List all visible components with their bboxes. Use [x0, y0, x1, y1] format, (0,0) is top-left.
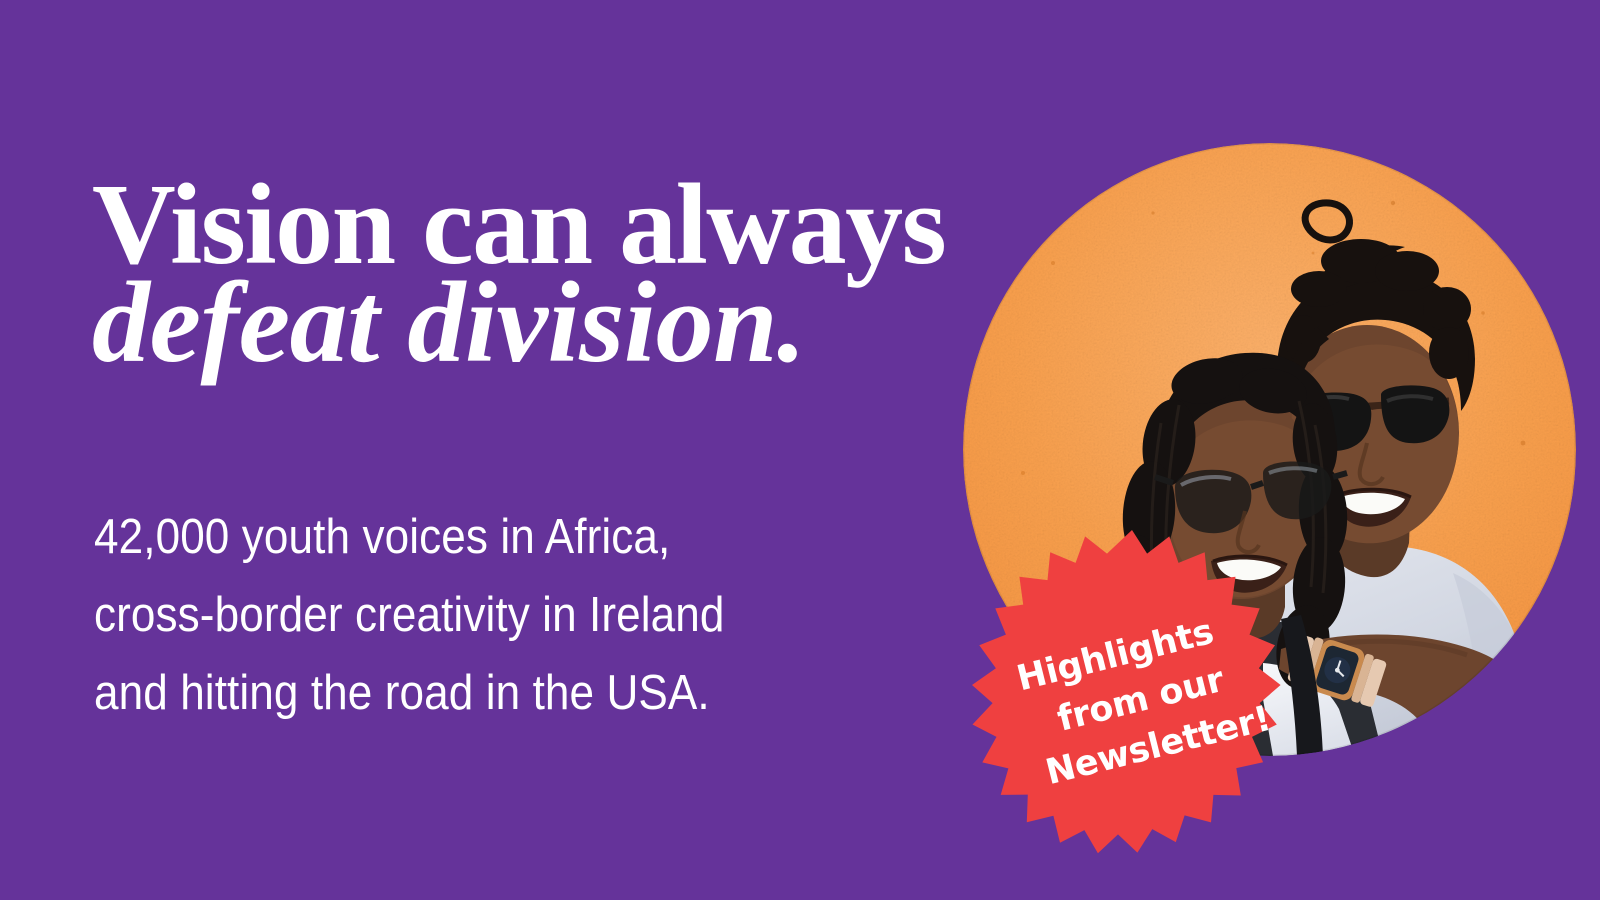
subheading-line-2: cross-border creativity in Ireland	[94, 576, 814, 654]
subheading-line-1: 42,000 youth voices in Africa,	[94, 498, 814, 576]
starburst-polygon	[972, 530, 1281, 853]
newsletter-highlights-badge[interactable]: Highlights from our Newsletter!	[961, 530, 1303, 874]
starburst-shape	[961, 530, 1303, 874]
subheading: 42,000 youth voices in Africa, cross-bor…	[94, 498, 814, 732]
page-title: Vision can always defeat division.	[92, 176, 992, 372]
text-column: Vision can always defeat division. 42,00…	[92, 0, 992, 900]
subheading-line-3: and hitting the road in the USA.	[94, 654, 814, 732]
newsletter-banner: Vision can always defeat division. 42,00…	[0, 0, 1600, 900]
